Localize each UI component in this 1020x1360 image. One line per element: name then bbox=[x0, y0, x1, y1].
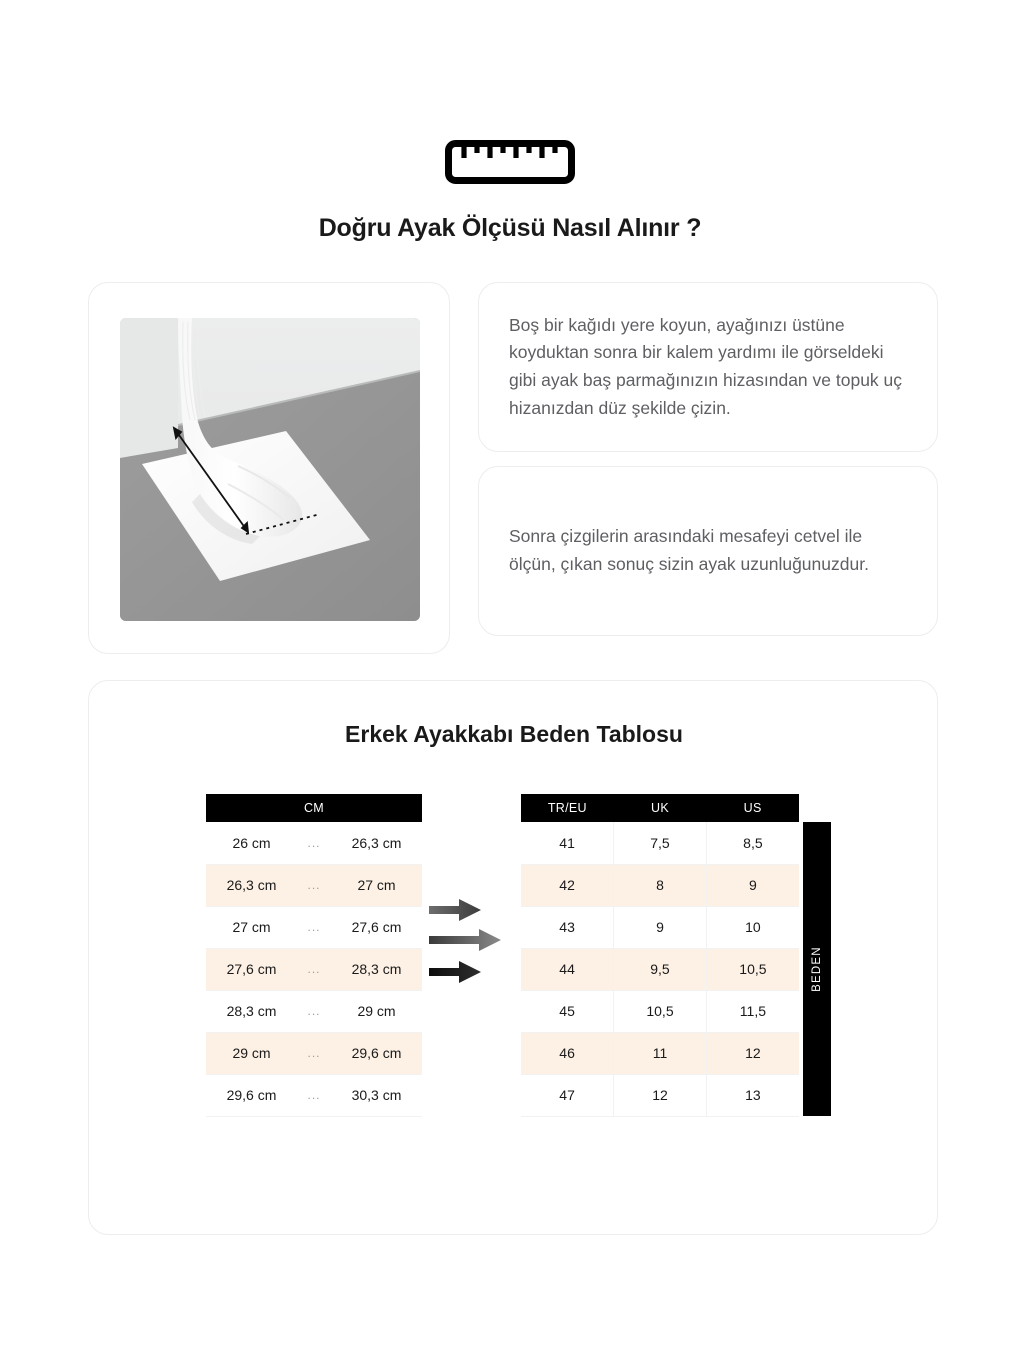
cm-table: CM 26 cm ... 26,3 cm 26,3 cm ... 27 cm bbox=[206, 794, 422, 1117]
size-chart-title: Erkek Ayakkabı Beden Tablosu bbox=[89, 721, 939, 748]
table-row: 29 cm ... 29,6 cm bbox=[206, 1032, 422, 1074]
table-row: 45 10,5 11,5 bbox=[521, 990, 799, 1032]
table-row: 44 9,5 10,5 bbox=[521, 948, 799, 990]
instruction-photo-card bbox=[88, 282, 450, 654]
cm-separator: ... bbox=[297, 822, 331, 864]
cm-low: 29 cm bbox=[206, 1032, 297, 1074]
table-row: 26,3 cm ... 27 cm bbox=[206, 864, 422, 906]
cm-separator: ... bbox=[297, 906, 331, 948]
size-table-wrap: TR/EU UK US 41 7,5 8,5 42 8 bbox=[521, 794, 831, 1117]
arrow-icon-bottom bbox=[429, 961, 481, 983]
size-guide-page: Doğru Ayak Ölçüsü Nasıl Alınır ? bbox=[0, 0, 1020, 1360]
size-treu: 44 bbox=[521, 948, 614, 990]
size-uk: 7,5 bbox=[614, 822, 707, 864]
size-treu: 45 bbox=[521, 990, 614, 1032]
cm-low: 27,6 cm bbox=[206, 948, 297, 990]
size-us: 11,5 bbox=[706, 990, 799, 1032]
beden-side-label: BEDEN bbox=[803, 822, 831, 1116]
size-header-uk: UK bbox=[614, 794, 707, 822]
size-treu: 43 bbox=[521, 906, 614, 948]
cm-low: 26 cm bbox=[206, 822, 297, 864]
table-row: 27,6 cm ... 28,3 cm bbox=[206, 948, 422, 990]
cm-low: 27 cm bbox=[206, 906, 297, 948]
foot-measurement-illustration bbox=[120, 318, 420, 621]
cm-separator: ... bbox=[297, 864, 331, 906]
instruction-card-2: Sonra çizgilerin arasındaki mesafeyi cet… bbox=[478, 466, 938, 636]
table-row: 29,6 cm ... 30,3 cm bbox=[206, 1074, 422, 1116]
size-uk: 11 bbox=[614, 1032, 707, 1074]
instruction-card-1: Boş bir kağıdı yere koyun, ayağınızı üst… bbox=[478, 282, 938, 452]
foot-measurement-photo bbox=[120, 318, 420, 621]
size-header-us: US bbox=[706, 794, 799, 822]
size-us: 8,5 bbox=[706, 822, 799, 864]
table-row: 27 cm ... 27,6 cm bbox=[206, 906, 422, 948]
instruction-text-2: Sonra çizgilerin arasındaki mesafeyi cet… bbox=[479, 523, 937, 578]
table-row: 46 11 12 bbox=[521, 1032, 799, 1074]
instruction-text-1: Boş bir kağıdı yere koyun, ayağınızı üst… bbox=[479, 312, 937, 423]
size-uk: 8 bbox=[614, 864, 707, 906]
size-us: 10 bbox=[706, 906, 799, 948]
cm-high: 30,3 cm bbox=[331, 1074, 422, 1116]
size-treu: 42 bbox=[521, 864, 614, 906]
cm-low: 29,6 cm bbox=[206, 1074, 297, 1116]
size-uk: 9 bbox=[614, 906, 707, 948]
size-table-header-row: TR/EU UK US bbox=[521, 794, 799, 822]
table-row: 42 8 9 bbox=[521, 864, 799, 906]
cm-separator: ... bbox=[297, 1032, 331, 1074]
cm-low: 28,3 cm bbox=[206, 990, 297, 1032]
size-header-treu: TR/EU bbox=[521, 794, 614, 822]
table-row: 28,3 cm ... 29 cm bbox=[206, 990, 422, 1032]
size-chart-card: Erkek Ayakkabı Beden Tablosu CM 26 cm ..… bbox=[88, 680, 938, 1235]
cm-table-header-row: CM bbox=[206, 794, 422, 822]
table-row: 41 7,5 8,5 bbox=[521, 822, 799, 864]
cm-low: 26,3 cm bbox=[206, 864, 297, 906]
cm-high: 27,6 cm bbox=[331, 906, 422, 948]
cm-high: 27 cm bbox=[331, 864, 422, 906]
table-row: 26 cm ... 26,3 cm bbox=[206, 822, 422, 864]
size-us: 10,5 bbox=[706, 948, 799, 990]
arrow-icon-top bbox=[429, 899, 481, 921]
size-treu: 47 bbox=[521, 1074, 614, 1116]
size-treu: 46 bbox=[521, 1032, 614, 1074]
table-row: 47 12 13 bbox=[521, 1074, 799, 1116]
cm-high: 29,6 cm bbox=[331, 1032, 422, 1074]
ruler-icon bbox=[445, 140, 575, 184]
table-row: 43 9 10 bbox=[521, 906, 799, 948]
cm-separator: ... bbox=[297, 1074, 331, 1116]
size-uk: 10,5 bbox=[614, 990, 707, 1032]
page-title: Doğru Ayak Ölçüsü Nasıl Alınır ? bbox=[0, 214, 1020, 243]
ruler-icon-container bbox=[0, 140, 1020, 184]
size-uk: 12 bbox=[614, 1074, 707, 1116]
size-us: 9 bbox=[706, 864, 799, 906]
cm-high: 29 cm bbox=[331, 990, 422, 1032]
arrow-icon-middle bbox=[429, 929, 501, 951]
size-uk: 9,5 bbox=[614, 948, 707, 990]
cm-high: 26,3 cm bbox=[331, 822, 422, 864]
size-us: 13 bbox=[706, 1074, 799, 1116]
three-right-arrows-icon bbox=[429, 899, 519, 994]
size-us: 12 bbox=[706, 1032, 799, 1074]
cm-high: 28,3 cm bbox=[331, 948, 422, 990]
cm-header-cell: CM bbox=[206, 794, 422, 822]
cm-separator: ... bbox=[297, 948, 331, 990]
size-tables: CM 26 cm ... 26,3 cm 26,3 cm ... 27 cm bbox=[89, 794, 939, 1124]
size-table: TR/EU UK US 41 7,5 8,5 42 8 bbox=[521, 794, 799, 1117]
size-treu: 41 bbox=[521, 822, 614, 864]
beden-label-text: BEDEN bbox=[811, 946, 823, 992]
cm-separator: ... bbox=[297, 990, 331, 1032]
